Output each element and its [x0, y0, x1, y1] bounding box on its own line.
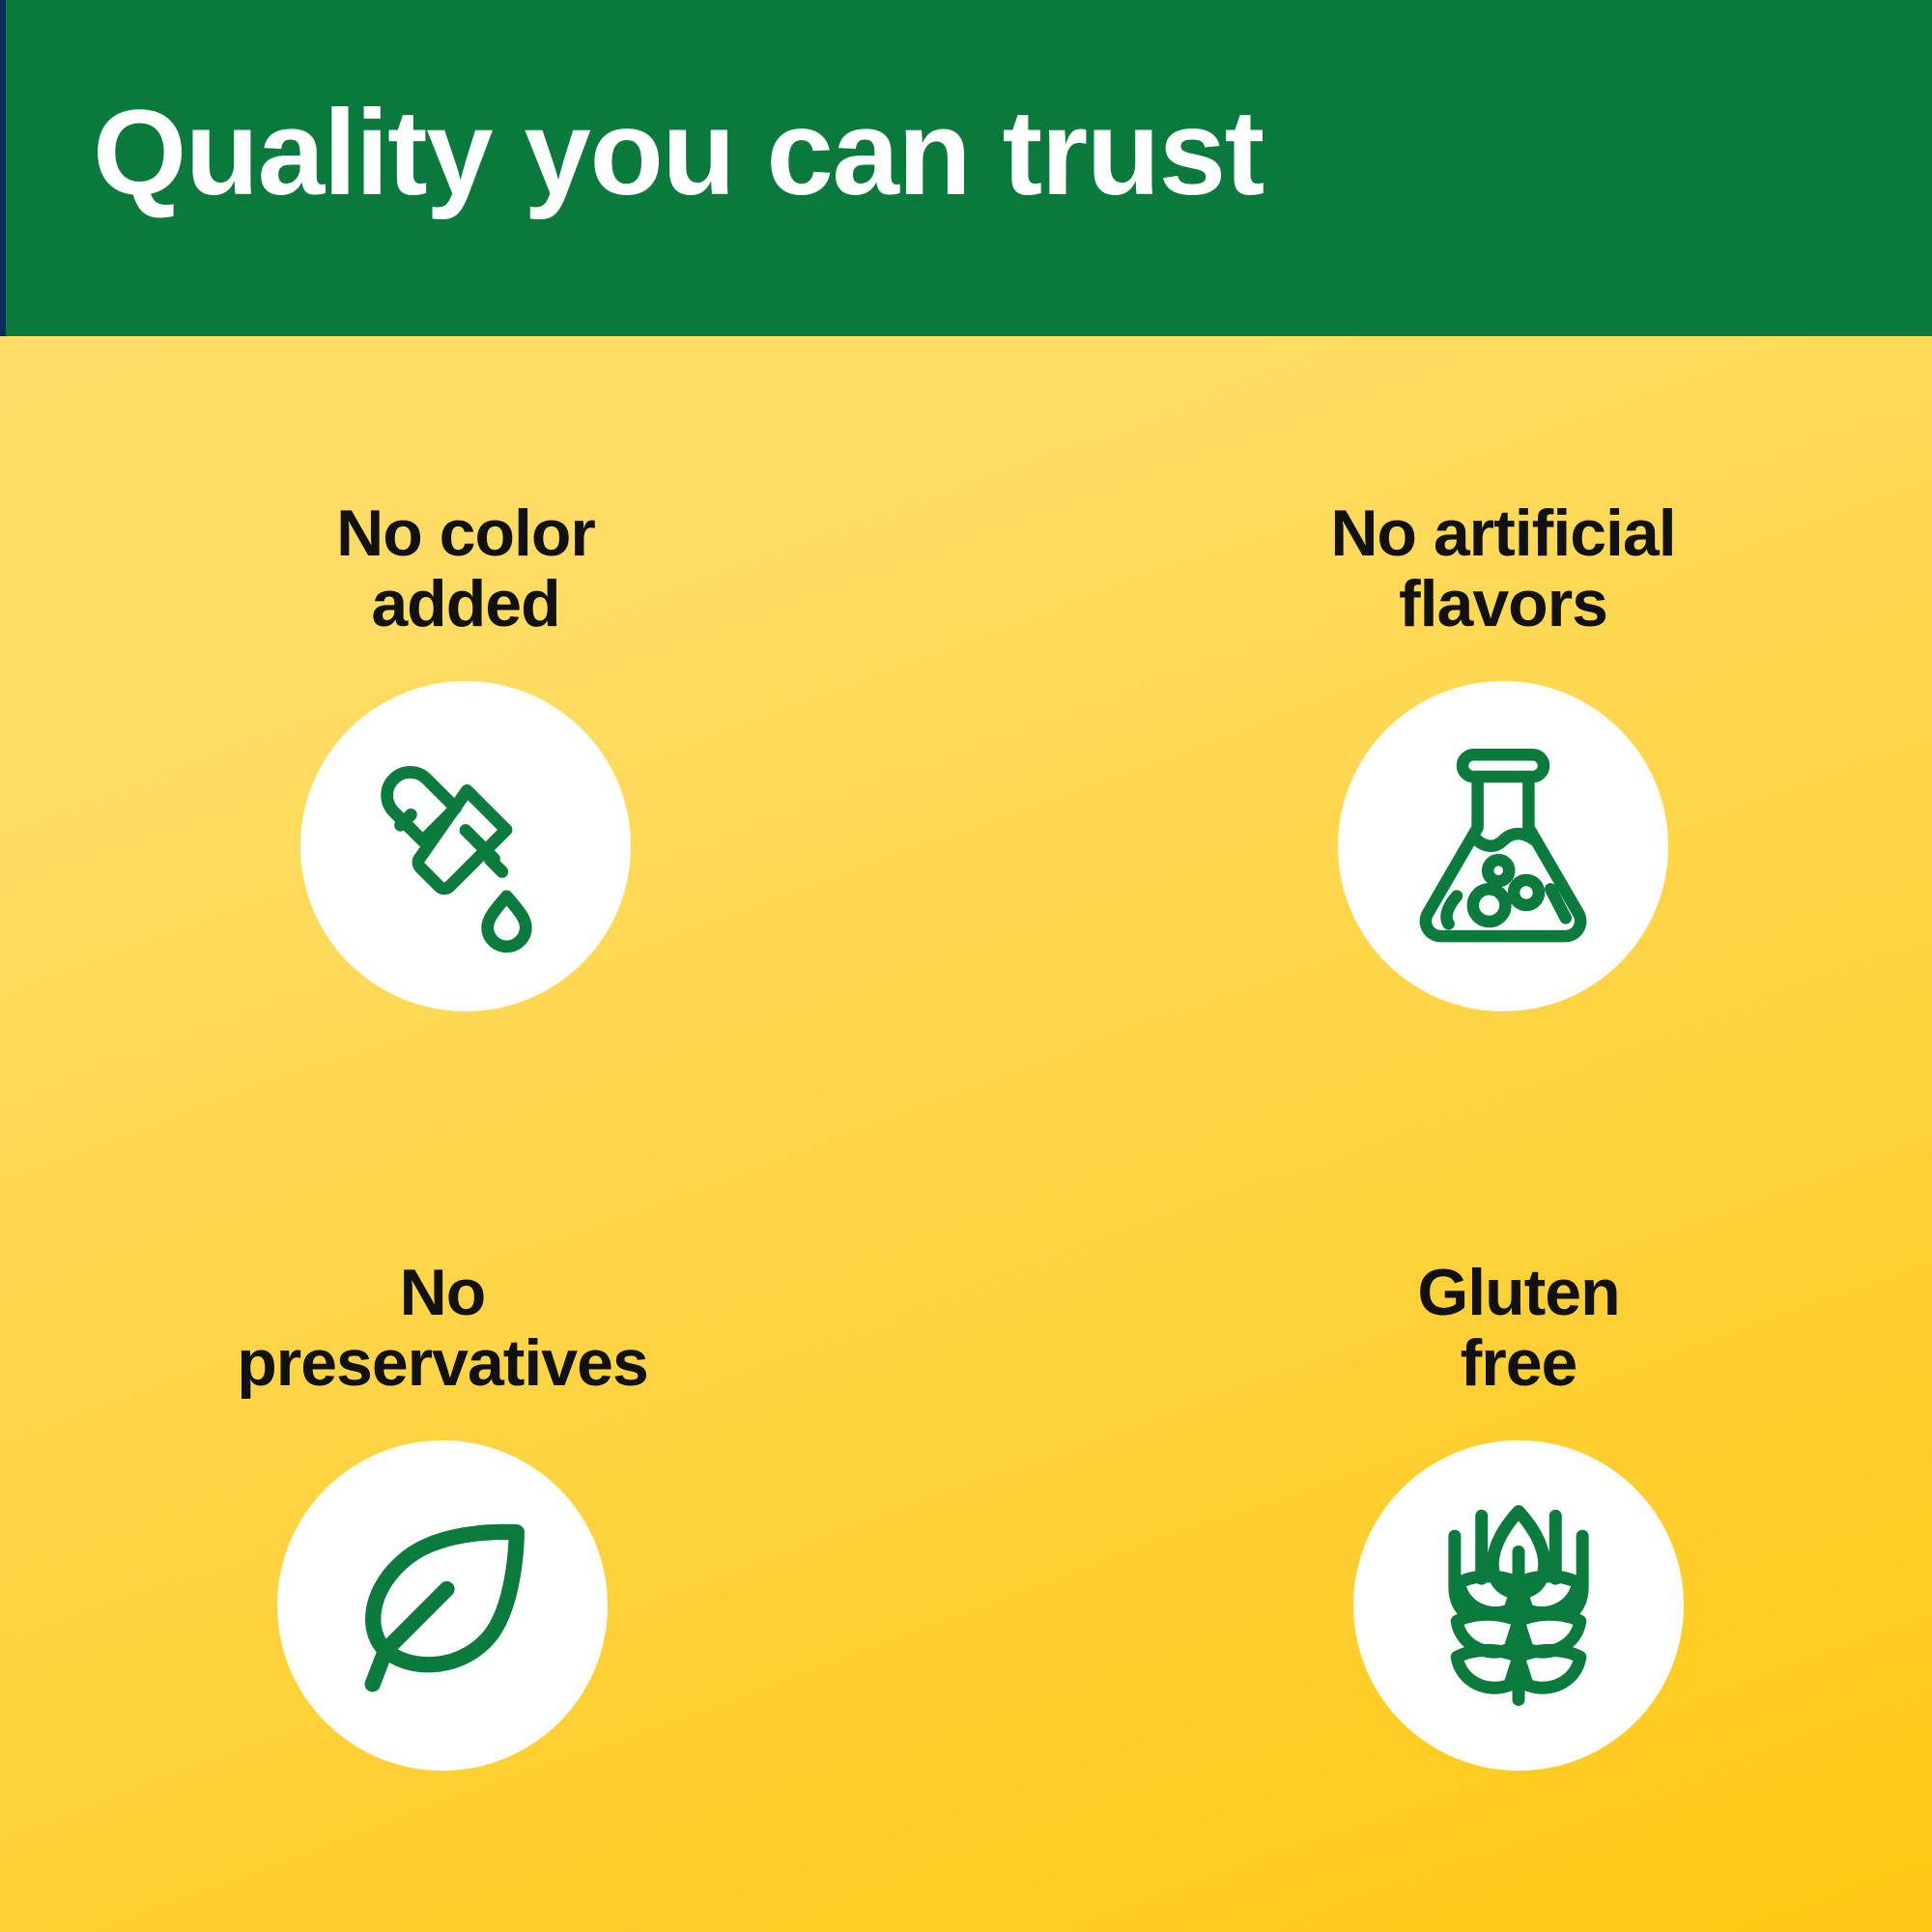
feature-icon-circle-gluten-free [1353, 1440, 1684, 1771]
feature-no-color-added: No color added [0, 336, 966, 1134]
feature-icon-circle-no-preservatives [277, 1440, 608, 1771]
header-left-accent-stripe [0, 0, 6, 336]
feature-icon-circle-no-color-added [300, 681, 631, 1011]
quality-badge-panel: Quality you can trust No color added [0, 0, 1932, 1932]
header-banner: Quality you can trust [0, 0, 1932, 336]
feature-no-artificial-flavors: No artificial flavors [966, 336, 1932, 1134]
flask-icon [1387, 730, 1619, 962]
wheat-icon [1406, 1493, 1631, 1718]
dropper-icon [352, 732, 580, 960]
feature-label-no-artificial-flavors: No artificial flavors [1330, 498, 1675, 640]
feature-grid: No color added [0, 336, 1932, 1932]
feature-icon-circle-no-artificial-flavors [1338, 681, 1668, 1011]
page-title: Quality you can trust [93, 0, 1264, 321]
feature-gluten-free: Gluten free [966, 1134, 1932, 1932]
leaf-icon [333, 1496, 552, 1715]
feature-no-preservatives: No preservatives [0, 1134, 966, 1932]
feature-label-gluten-free: Gluten free [1417, 1258, 1619, 1400]
feature-label-no-color-added: No color added [336, 498, 595, 640]
feature-label-no-preservatives: No preservatives [237, 1258, 648, 1400]
